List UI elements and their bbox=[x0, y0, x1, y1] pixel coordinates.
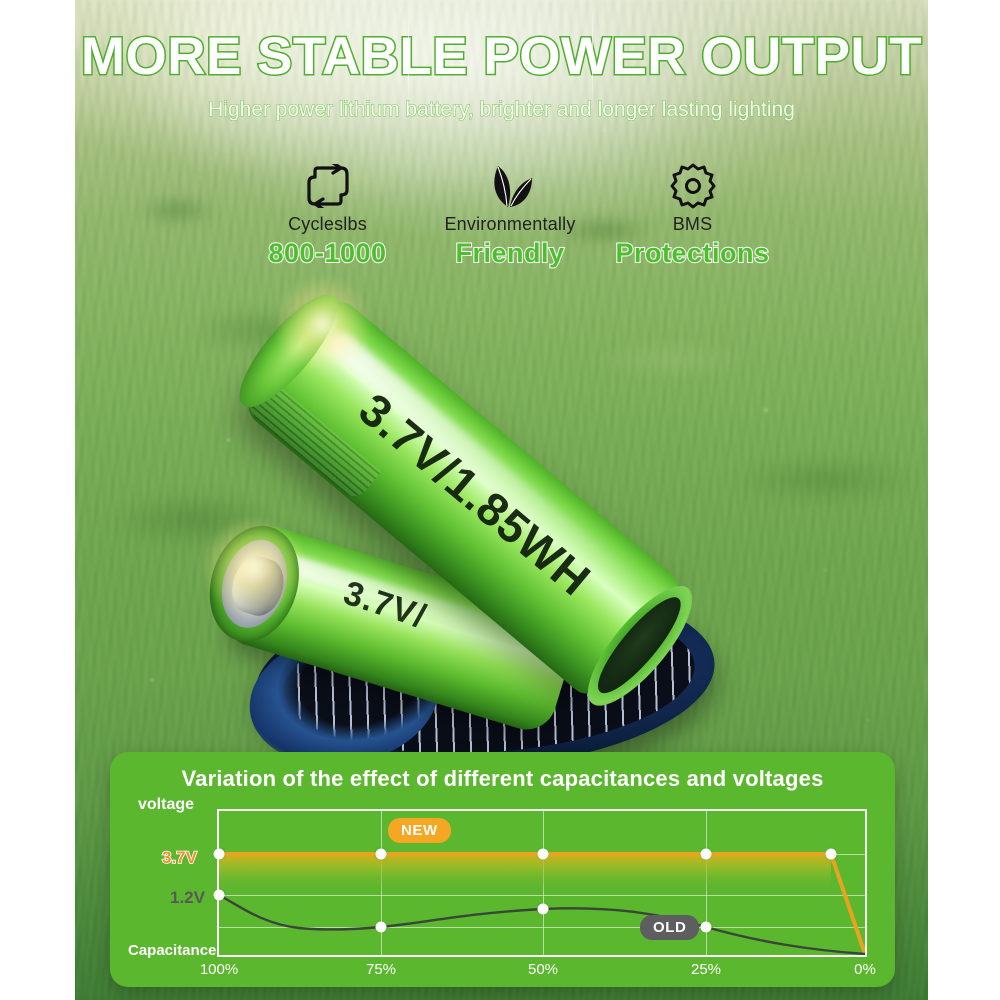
feature-cycles-caption: Cycleslbs bbox=[240, 214, 415, 235]
chart-x-tick-25: 25% bbox=[691, 961, 721, 978]
feature-cycles: Cycleslbs 800-1000 bbox=[240, 160, 415, 269]
feature-bms-caption: BMS bbox=[605, 214, 780, 235]
new-point-end bbox=[826, 849, 837, 860]
new-series-badge: NEW bbox=[388, 818, 451, 843]
chart-x-tick-75: 75% bbox=[366, 961, 396, 978]
product-marketing-image: MORE STABLE POWER OUTPUT Higher power li… bbox=[0, 0, 1000, 1000]
old-series-badge: OLD bbox=[640, 915, 699, 940]
feature-cycles-value: 800-1000 bbox=[240, 238, 415, 269]
new-point-100 bbox=[214, 849, 225, 860]
feature-row: Cycleslbs 800-1000 Environmentally Frien… bbox=[240, 160, 780, 280]
chart-y-tick-1-2v: 1.2V bbox=[170, 888, 205, 908]
chart-x-tick-100: 100% bbox=[200, 961, 238, 978]
chart-plot-area bbox=[217, 809, 867, 957]
feature-divider-2 bbox=[592, 8, 593, 104]
old-point-50 bbox=[538, 904, 549, 915]
page-subtitle: Higher power lithium battery, brighter a… bbox=[75, 98, 928, 122]
chart-x-tick-50: 50% bbox=[528, 961, 558, 978]
feature-environment-value: Friendly bbox=[423, 238, 598, 269]
new-point-50 bbox=[538, 849, 549, 860]
feature-environment-caption: Environmentally bbox=[423, 214, 598, 235]
chart-y-axis-label: voltage bbox=[138, 796, 194, 814]
old-point-75 bbox=[376, 922, 387, 933]
feature-divider-1 bbox=[408, 8, 409, 104]
chart-x-axis-label: Capacitance bbox=[128, 942, 216, 959]
leaves-icon bbox=[423, 160, 598, 212]
page-title: MORE STABLE POWER OUTPUT bbox=[75, 26, 928, 87]
feature-environment: Environmentally Friendly bbox=[423, 160, 598, 269]
new-series-area bbox=[219, 854, 831, 895]
chart-x-tick-0: 0% bbox=[854, 961, 876, 978]
feature-bms: BMS Protections bbox=[605, 160, 780, 269]
cycle-arrows-icon bbox=[240, 160, 415, 212]
gear-icon bbox=[605, 160, 780, 212]
feature-bms-value: Protections bbox=[605, 238, 780, 269]
chart-title: Variation of the effect of different cap… bbox=[110, 766, 895, 792]
new-point-75 bbox=[376, 849, 387, 860]
new-point-25 bbox=[701, 849, 712, 860]
chart-y-tick-3-7v: 3.7V bbox=[162, 848, 197, 868]
old-point-100 bbox=[214, 890, 225, 901]
chart-series-svg bbox=[219, 811, 865, 955]
old-point-25 bbox=[701, 922, 712, 933]
chart-panel: Variation of the effect of different cap… bbox=[110, 752, 895, 987]
